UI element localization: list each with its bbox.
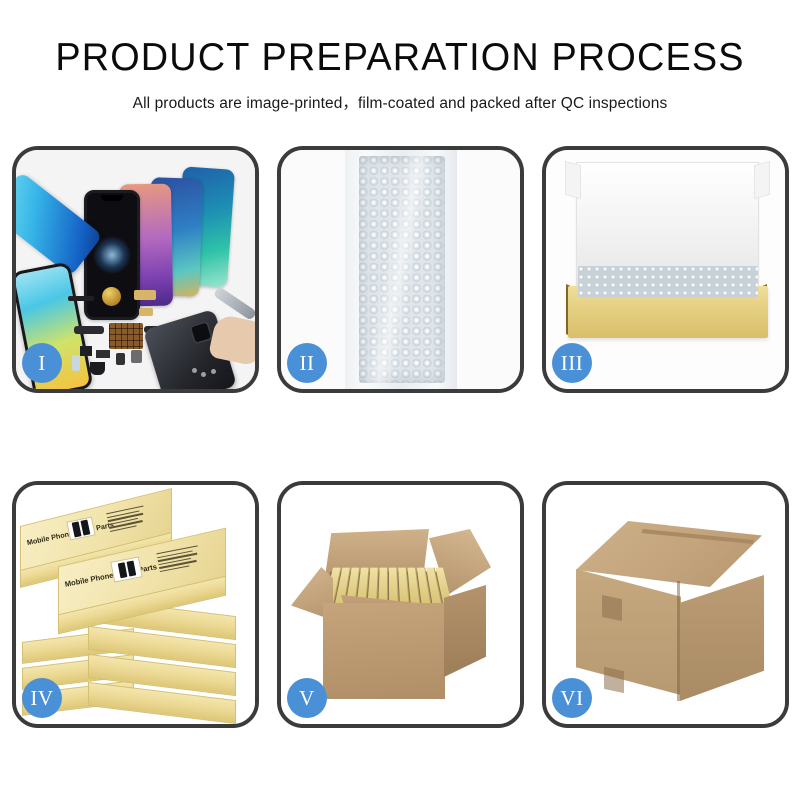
plastic-sheen-overlay — [359, 156, 445, 383]
step-badge-6: VI — [552, 678, 592, 718]
step-badge-2: II — [287, 343, 327, 383]
chip-component-icon — [109, 323, 143, 349]
small-part-icon — [72, 355, 80, 371]
small-part-icon — [96, 350, 110, 358]
bubble-wrapped-contents-icon — [578, 266, 758, 298]
carton-front-face-icon — [323, 603, 445, 699]
flex-cable-icon — [68, 296, 94, 301]
step-badge-3: III — [552, 343, 592, 383]
process-step-panel-4: Mobile Phone Spare Parts Mobile Phone Sp… — [12, 481, 259, 728]
process-step-panel-5: V Boxes packed into shipping carton — [277, 481, 524, 728]
mailer-box-tray-icon — [568, 286, 768, 338]
speaker-component-icon — [102, 287, 121, 306]
carton-corner-edge — [677, 581, 680, 701]
packing-tape-icon — [604, 667, 624, 693]
small-part-icon — [116, 353, 125, 365]
step-badge-4: IV — [22, 678, 62, 718]
product-preparation-infographic: PRODUCT PREPARATION PROCESS All products… — [0, 0, 800, 800]
small-part-icon — [90, 362, 105, 375]
process-step-panel-3: III Bubble-wrapped item placed in kraft … — [542, 146, 789, 393]
page-title: PRODUCT PREPARATION PROCESS — [12, 38, 788, 79]
step-badge-1: I — [22, 343, 62, 383]
process-step-panel-1: I Mobile phone screens, displays and spa… — [12, 146, 259, 393]
step-badge-5: V — [287, 678, 327, 718]
page-subtitle: All products are image-printed，film-coat… — [0, 91, 800, 113]
flex-cable-icon — [134, 290, 156, 300]
bubble-wrap-sleeve-icon — [345, 150, 457, 389]
flex-cable-icon — [139, 308, 153, 316]
packing-tape-icon — [602, 595, 622, 621]
flex-cable-icon — [74, 326, 104, 334]
process-step-panel-2: II Product wrapped in bubble wrap sleeve — [277, 146, 524, 393]
process-step-panel-6: VI Sealed carton ready for shipment — [542, 481, 789, 728]
header: PRODUCT PREPARATION PROCESS All products… — [0, 0, 800, 113]
small-part-icon — [131, 350, 142, 363]
screws-icon — [192, 368, 222, 378]
small-part-icon — [80, 346, 92, 356]
process-step-grid: I Mobile phone screens, displays and spa… — [12, 146, 788, 728]
